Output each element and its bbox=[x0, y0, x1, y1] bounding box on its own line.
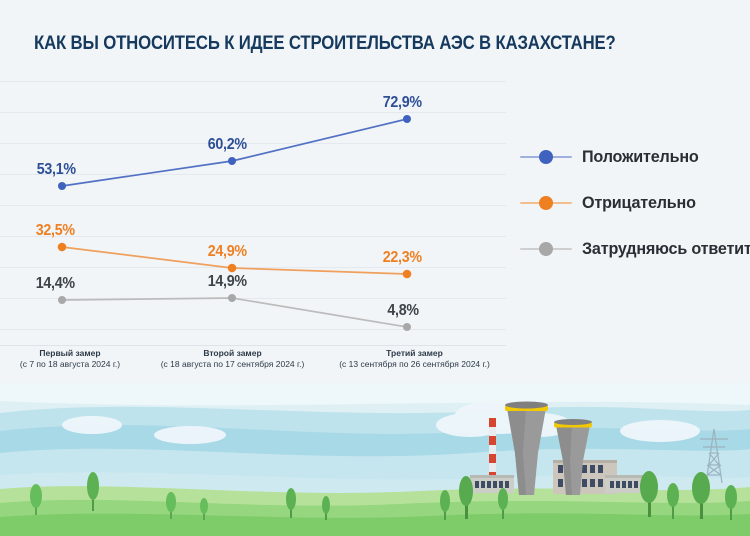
cloud-4 bbox=[62, 416, 122, 434]
data-label-negative-1: 32,5% bbox=[36, 222, 75, 240]
legend-item-undecided[interactable]: Затрудняюсь ответить bbox=[520, 226, 750, 272]
point-negative-1 bbox=[58, 243, 67, 252]
x-tick-2: Второй замер (с 18 августа по 17 сентябр… bbox=[145, 348, 320, 369]
legend-marker-undecided-icon bbox=[520, 242, 572, 256]
landscape-illustration bbox=[0, 383, 750, 536]
chimney-stripe bbox=[489, 418, 496, 427]
axis-baseline bbox=[0, 345, 506, 346]
point-undecided-1 bbox=[58, 296, 66, 304]
x-tick-3: Третий замер (с 13 сентября по 26 сентяб… bbox=[322, 348, 507, 369]
data-label-undecided-1: 14,4% bbox=[36, 275, 75, 293]
chart-legend: Положительно Отрицательно Затрудняюсь от… bbox=[520, 134, 750, 272]
point-undecided-3 bbox=[403, 323, 411, 331]
landscape-svg bbox=[0, 383, 750, 536]
chimney-stripe bbox=[489, 454, 496, 463]
x-tick-1-name: Первый замер bbox=[0, 348, 140, 359]
x-tick-2-name: Второй замер bbox=[145, 348, 320, 359]
data-label-undecided-3: 4,8% bbox=[387, 302, 418, 320]
legend-label-undecided: Затрудняюсь ответить bbox=[582, 239, 750, 259]
point-negative-2 bbox=[228, 264, 237, 273]
cloud-6 bbox=[620, 420, 700, 442]
chart-plot-area: 53,1% 60,2% 72,9% 32,5% 24,9% 22,3% 14,4… bbox=[0, 78, 506, 348]
data-label-undecided-2: 14,9% bbox=[208, 273, 247, 291]
point-undecided-2 bbox=[228, 294, 236, 302]
building-left bbox=[470, 475, 514, 493]
legend-item-negative[interactable]: Отрицательно bbox=[520, 180, 750, 226]
legend-marker-negative-icon bbox=[520, 196, 572, 210]
series-lines bbox=[0, 78, 506, 348]
line-series-undecided bbox=[62, 298, 407, 327]
data-label-negative-3: 22,3% bbox=[383, 249, 422, 267]
page-title: КАК ВЫ ОТНОСИТЕСЬ К ИДЕЕ СТРОИТЕЛЬСТВА А… bbox=[34, 33, 602, 54]
point-positive-2 bbox=[228, 157, 236, 165]
x-axis-labels: Первый замер (с 7 по 18 августа 2024 г.)… bbox=[0, 348, 510, 380]
x-tick-1-range: (с 7 по 18 августа 2024 г.) bbox=[0, 359, 140, 370]
x-tick-1: Первый замер (с 7 по 18 августа 2024 г.) bbox=[0, 348, 140, 369]
data-label-positive-3: 72,9% bbox=[383, 94, 422, 112]
point-positive-1 bbox=[58, 182, 66, 190]
chimney bbox=[489, 418, 496, 484]
data-label-negative-2: 24,9% bbox=[208, 243, 247, 261]
tower-top bbox=[554, 419, 592, 425]
point-positive-3 bbox=[403, 115, 411, 123]
legend-item-positive[interactable]: Положительно bbox=[520, 134, 750, 180]
chimney-stripe bbox=[489, 436, 496, 445]
legend-label-negative: Отрицательно bbox=[582, 193, 696, 213]
tower-top bbox=[505, 402, 548, 409]
data-label-positive-2: 60,2% bbox=[208, 136, 247, 154]
legend-marker-positive-icon bbox=[520, 150, 572, 164]
data-label-positive-1: 53,1% bbox=[37, 161, 76, 179]
point-negative-3 bbox=[403, 270, 412, 279]
x-tick-2-range: (с 18 августа по 17 сентября 2024 г.) bbox=[145, 359, 320, 370]
legend-label-positive: Положительно bbox=[582, 147, 699, 167]
x-tick-3-name: Третий замер bbox=[322, 348, 507, 359]
cloud-5 bbox=[154, 426, 226, 444]
sky-band-light bbox=[0, 383, 750, 405]
infographic-canvas: КАК ВЫ ОТНОСИТЕСЬ К ИДЕЕ СТРОИТЕЛЬСТВА А… bbox=[0, 0, 750, 536]
x-tick-3-range: (с 13 сентября по 26 сентября 2024 г.) bbox=[322, 359, 507, 370]
